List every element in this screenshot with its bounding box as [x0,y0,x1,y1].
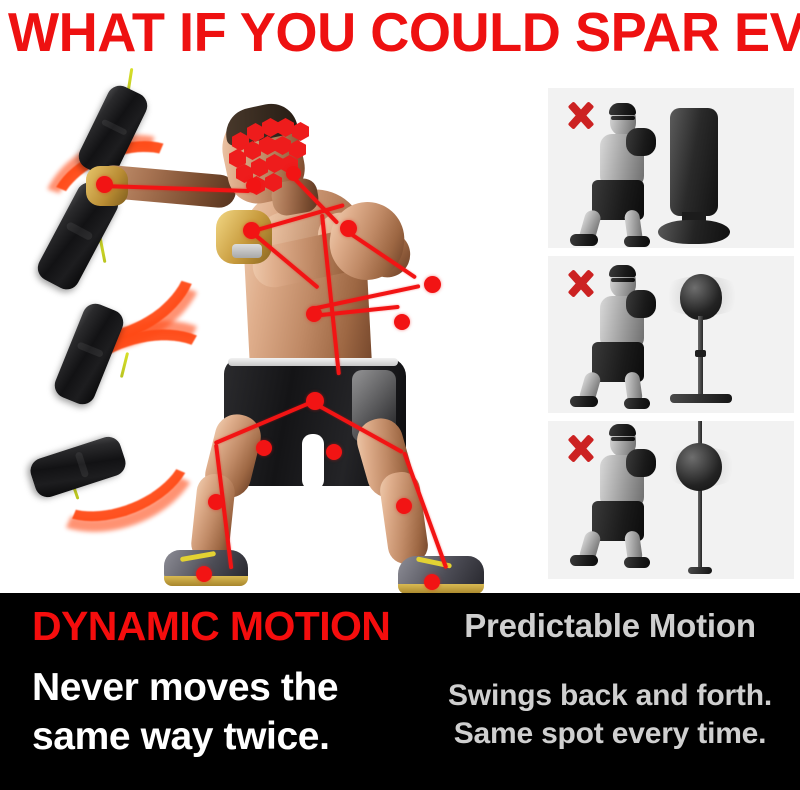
tracking-joint [424,574,440,590]
shorts-waistband [228,358,398,366]
pedestal-base [670,394,732,403]
dynamic-motion-body: Never moves the same way twice. [32,663,432,761]
reject-x-icon [564,266,598,300]
tracking-joint [340,220,357,237]
tracking-joint [396,498,412,514]
floor-anchor-plate [688,567,712,574]
tracking-joint [424,276,441,293]
caption-column-predictable: Predictable Motion Swings back and forth… [432,603,788,753]
page-title: WHAT IF YOU COULD SPAR EVERY DAY? [8,2,784,64]
free-standing-bag-body [670,108,718,216]
comparison-caption-panel: DYNAMIC MOTION Never moves the same way … [0,593,800,790]
model-right-shoe [624,398,650,409]
model-gloves [626,128,656,156]
dynamic-motion-body-line-1: Never moves the [32,663,432,712]
tracking-joint [394,314,410,330]
double-end-bag [676,443,722,491]
comparison-photo-double-end-bag [548,421,794,579]
tracking-joint [306,306,322,322]
model-gloves [626,290,656,318]
dynamic-motion-body-line-2: same way twice. [32,712,432,761]
model-hair [609,265,636,277]
caption-column-dynamic: DYNAMIC MOTION Never moves the same way … [32,603,432,761]
pedestal-adjuster [695,350,706,357]
predictable-motion-body-line-2: Same spot every time. [432,715,788,753]
tracking-joint [326,444,342,460]
glasses-icon [611,116,635,120]
athlete-right-shin [378,470,430,567]
glove-wrap-band [232,244,262,258]
hero-image [0,62,540,593]
tracking-joint [306,392,324,410]
predictable-motion-body-line-1: Swings back and forth. [432,677,788,715]
predictable-motion-heading: Predictable Motion [432,603,788,649]
tracking-joint [96,176,113,193]
model-right-shoe [624,236,650,247]
tracking-joint [196,566,212,582]
model-hair [609,424,636,436]
reject-x-icon [564,431,598,465]
speed-ball [680,274,722,320]
product-infographic: WHAT IF YOU COULD SPAR EVERY DAY? [0,0,800,790]
reject-x-icon [564,98,598,132]
tracking-joint [256,440,272,456]
glasses-icon [611,437,635,441]
model-left-shoe [570,555,598,566]
comparison-photo-speed-ball-pedestal [548,256,794,413]
model-right-shoe [624,557,650,568]
free-standing-bag-base [658,220,730,244]
tracking-joint [243,222,260,239]
tracking-joint [286,166,301,181]
predictable-motion-body: Swings back and forth. Same spot every t… [432,677,788,753]
tracking-joint [246,178,261,193]
comparison-photo-free-standing-bag [548,88,794,248]
model-gloves [626,449,656,477]
model-left-shoe [570,234,598,246]
dynamic-motion-heading: DYNAMIC MOTION [32,603,432,649]
shorts-inseam-notch [302,434,324,490]
model-hair [609,103,636,115]
tracking-joint [208,494,224,510]
model-left-shoe [570,396,598,407]
glasses-icon [611,278,635,282]
comparison-photo-column [548,88,794,579]
